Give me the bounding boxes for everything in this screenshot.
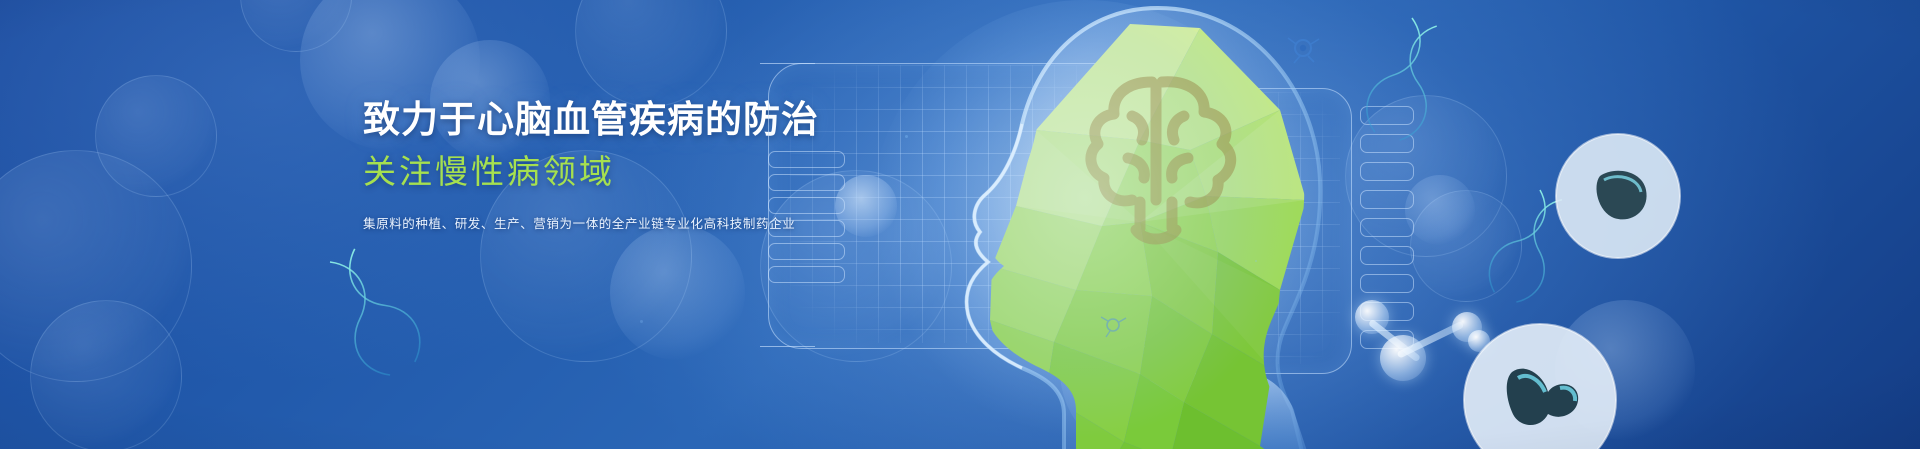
hud-frame [768, 63, 1170, 349]
light-sweep [0, 0, 1920, 449]
hud-bar [768, 266, 845, 283]
bokeh-circle [1060, 280, 1240, 449]
dna-helix-icon [1359, 13, 1452, 145]
head-glow-halo [870, 0, 1300, 440]
speck [905, 135, 908, 138]
speck [640, 320, 643, 323]
dna-helix-icon [1481, 184, 1576, 308]
bacteria-cell-icon [1464, 324, 1616, 449]
human-head-graphic [840, 0, 1360, 449]
bokeh-layer [0, 0, 1920, 449]
molecule-bond [1368, 319, 1421, 363]
bokeh-circle [0, 150, 192, 382]
head-outline [967, 8, 1321, 449]
dna-helix-icon [314, 240, 431, 383]
hero-text-block: 致力于心脑血管疾病的防治 关注慢性病领域 集原料的种植、研发、生产、营销为一体的… [363, 98, 783, 234]
headline-tail: 的防治 [705, 99, 819, 140]
bokeh-circle [95, 75, 217, 197]
hud-bar [1360, 218, 1414, 237]
page-title: 致力于心脑血管疾病的防治 [363, 98, 783, 142]
face-profile-highlight [967, 124, 1022, 368]
microbe-speck-icon [1101, 317, 1126, 337]
hud-frame-right [1070, 88, 1352, 374]
bokeh-circle [30, 300, 182, 449]
hud-bar [1360, 134, 1414, 153]
hud-tick-bottom-right [1105, 346, 1190, 347]
hud-bar [1360, 106, 1414, 125]
bokeh-circle [610, 225, 745, 360]
microbe-speck-icon [1288, 38, 1319, 63]
molecule-icon [0, 0, 1920, 449]
vignette [0, 0, 1920, 449]
molecule-atom [1355, 300, 1389, 334]
page-caption: 集原料的种植、研发、生产、营销为一体的全产业链专业化高科技制药企业 [363, 215, 783, 234]
hud-tick-top-left [760, 63, 815, 64]
bacteria-cell-icon [1556, 134, 1680, 258]
bokeh-circle [1345, 95, 1507, 257]
molecule-atom [1452, 312, 1482, 342]
hud-bar-stack-right [1360, 106, 1414, 349]
hud-bar [768, 243, 845, 260]
molecule-atom [1380, 335, 1426, 381]
hud-tick-bottom-left [760, 346, 815, 347]
speck [1060, 95, 1062, 97]
hud-panel-right [1180, 80, 1480, 380]
bokeh-circle [1405, 175, 1475, 245]
speck-layer [0, 0, 1920, 449]
bokeh-circle [240, 0, 352, 52]
head-neck [1140, 368, 1310, 449]
hud-tick-right-top [1085, 88, 1215, 89]
low-poly-head-svg [840, 0, 1360, 449]
hud-bar [1360, 274, 1414, 293]
hud-grid-right [1080, 92, 1340, 364]
molecule-atom [1468, 330, 1490, 352]
hud-tick-top-right [1105, 63, 1190, 64]
brain-icon [1091, 82, 1231, 239]
bokeh-circle [1555, 300, 1695, 440]
bokeh-circle [1410, 190, 1522, 302]
hud-grid [790, 65, 1140, 343]
speck [1255, 260, 1257, 262]
bokeh-circle [760, 170, 952, 362]
dna-layer [0, 0, 1920, 449]
bokeh-circle [835, 175, 897, 237]
low-poly-facets [990, 24, 1306, 449]
bokeh-circle [575, 0, 727, 107]
page-subtitle: 关注慢性病领域 [363, 152, 783, 192]
hud-bar [1360, 162, 1414, 181]
headline-lead: 致力于 [363, 99, 477, 140]
hud-diagnostic-panel [760, 55, 1200, 355]
hud-bar [1360, 330, 1414, 349]
hud-bar [1360, 190, 1414, 209]
hud-bar [1360, 302, 1414, 321]
hero-banner: 致力于心脑血管疾病的防治 关注慢性病领域 集原料的种植、研发、生产、营销为一体的… [0, 0, 1920, 449]
headline-accent: 心脑血管疾病 [477, 99, 705, 140]
hud-bar [1360, 246, 1414, 265]
molecule-bond [1396, 321, 1464, 359]
